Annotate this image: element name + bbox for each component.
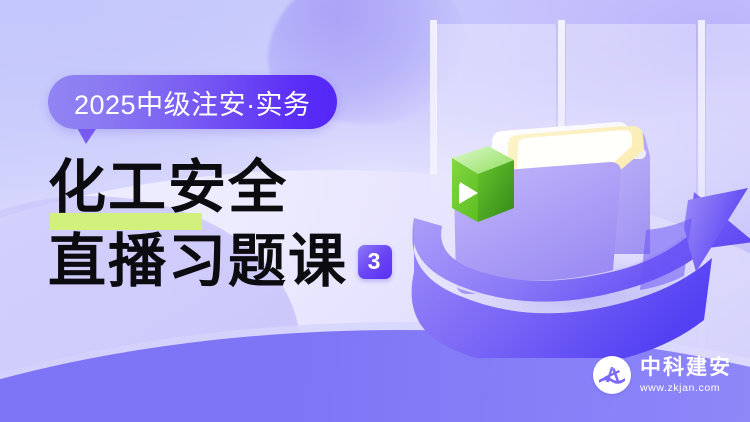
headline-line-2: 直播习题课3 xyxy=(48,229,392,293)
brand-name: 中科建安 xyxy=(640,357,732,378)
course-tag-pill: 2025中级注安·实务 xyxy=(48,75,337,129)
zkjan-logo-icon xyxy=(593,356,631,394)
headline-block: 化工安全 直播习题课3 xyxy=(48,155,392,293)
brand-logo: 中科建安 www.zkjan.com xyxy=(593,356,732,394)
brand-url: www.zkjan.com xyxy=(640,383,732,394)
headline-line-2-text: 直播习题课 xyxy=(48,227,348,295)
brand-logo-text: 中科建安 www.zkjan.com xyxy=(640,357,732,394)
illustration-folder-arrow xyxy=(396,18,750,358)
headline-line-1: 化工安全 xyxy=(48,155,392,219)
headline-line-1-text: 化工安全 xyxy=(48,153,288,221)
course-tag-label: 2025中级注安·实务 xyxy=(74,83,311,122)
green-cube-play-icon xyxy=(452,146,514,222)
course-banner: 2025中级注安·实务 化工安全 直播习题课3 中科建安 www.zkjan.c… xyxy=(0,0,750,422)
episode-number-badge: 3 xyxy=(358,245,392,279)
